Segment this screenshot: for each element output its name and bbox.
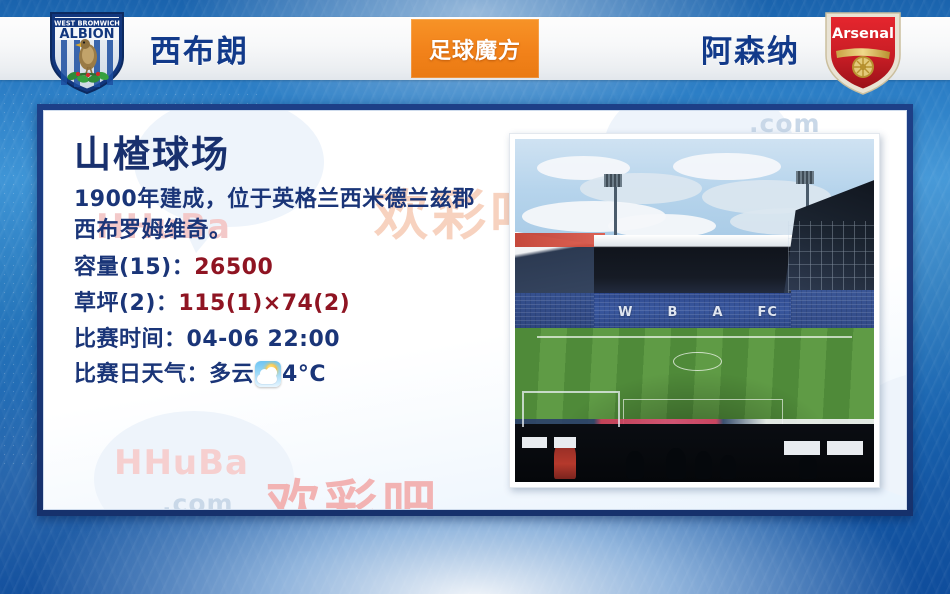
pitch-line [537, 336, 853, 338]
floodlight-pylon [614, 180, 617, 242]
stand-sign [827, 441, 863, 455]
match-header: WEST BROMWICH ALBION [0, 17, 950, 80]
spectator-silhouette [799, 455, 817, 479]
match-time-value: 04-06 22:00 [187, 327, 341, 352]
spectator-silhouette [626, 451, 644, 478]
content-panel: .com .com .com HHuBa HHuBa HuanHuBa 欢彩吧 … [43, 110, 907, 510]
seat-letter: B [668, 305, 679, 320]
goal-frame [522, 391, 619, 427]
stand-sign [554, 437, 576, 447]
watermark-brand-latin: HHuBa [114, 443, 249, 483]
seat-letter: FC [758, 305, 778, 320]
pitch-size-label: 草坪(2)： [74, 291, 178, 316]
watermark-bubble [94, 411, 294, 510]
floodlight-head [604, 174, 622, 187]
match-time-label: 比赛时间： [74, 327, 187, 352]
site-logo-text: 足球魔方 [429, 33, 521, 65]
spectator-silhouette [666, 448, 686, 479]
match-time-row: 比赛时间：04-06 22:00 [74, 322, 494, 358]
floodlight-head [796, 171, 814, 184]
stadium-description: 1900年建成，位于英格兰西米德兰兹郡西布罗姆维奇。 [74, 184, 494, 246]
home-team-name: 西布朗 [150, 17, 249, 80]
weather-condition: 多云 [209, 362, 254, 387]
stadium-title: 山楂球场 [74, 135, 494, 175]
weather-row: 比赛日天气：多云4°C [74, 357, 494, 393]
pitch-size-row: 草坪(2)：115(1)×74(2) [74, 286, 494, 322]
away-team-name: 阿森纳 [701, 17, 800, 80]
arsenal-crest: Arsenal [820, 5, 906, 97]
svg-text:Arsenal: Arsenal [832, 26, 894, 42]
seat-letter: A [712, 305, 723, 320]
weather-label: 比赛日天气： [74, 362, 209, 387]
advert-board-left [515, 233, 605, 247]
capacity-label: 容量(15)： [74, 255, 194, 280]
stadium-info-block: 山楂球场 1900年建成，位于英格兰西米德兰兹郡西布罗姆维奇。 容量(15)：2… [74, 135, 494, 393]
capacity-row: 容量(15)：26500 [74, 250, 494, 286]
watermark-brand-cn: 欢彩吧 [266, 461, 440, 510]
stand-sign [784, 441, 820, 455]
watermark-dotcom: .com [162, 489, 234, 510]
site-logo[interactable]: 足球魔方 [411, 19, 539, 78]
stand-sign [522, 437, 547, 447]
weather-temperature: 4°C [282, 362, 326, 387]
spectator-silhouette [695, 451, 713, 478]
west-bromwich-albion-crest: WEST BROMWICH ALBION [44, 5, 130, 97]
stadium-photo-frame: W B A FC [509, 133, 880, 488]
capacity-value: 26500 [194, 255, 273, 280]
content-frame: .com .com .com HHuBa HHuBa HuanHuBa 欢彩吧 … [37, 104, 913, 516]
seat-lettering: W B A FC [601, 298, 795, 325]
pitch-size-value: 115(1)×74(2) [178, 291, 350, 316]
spectator-silhouette [720, 455, 736, 479]
centre-circle [673, 352, 722, 371]
stadium-photo: W B A FC [515, 139, 874, 482]
partly-cloudy-icon [255, 361, 281, 387]
match-preview-card: WEST BROMWICH ALBION [0, 0, 950, 594]
seat-letter: W [618, 305, 633, 320]
